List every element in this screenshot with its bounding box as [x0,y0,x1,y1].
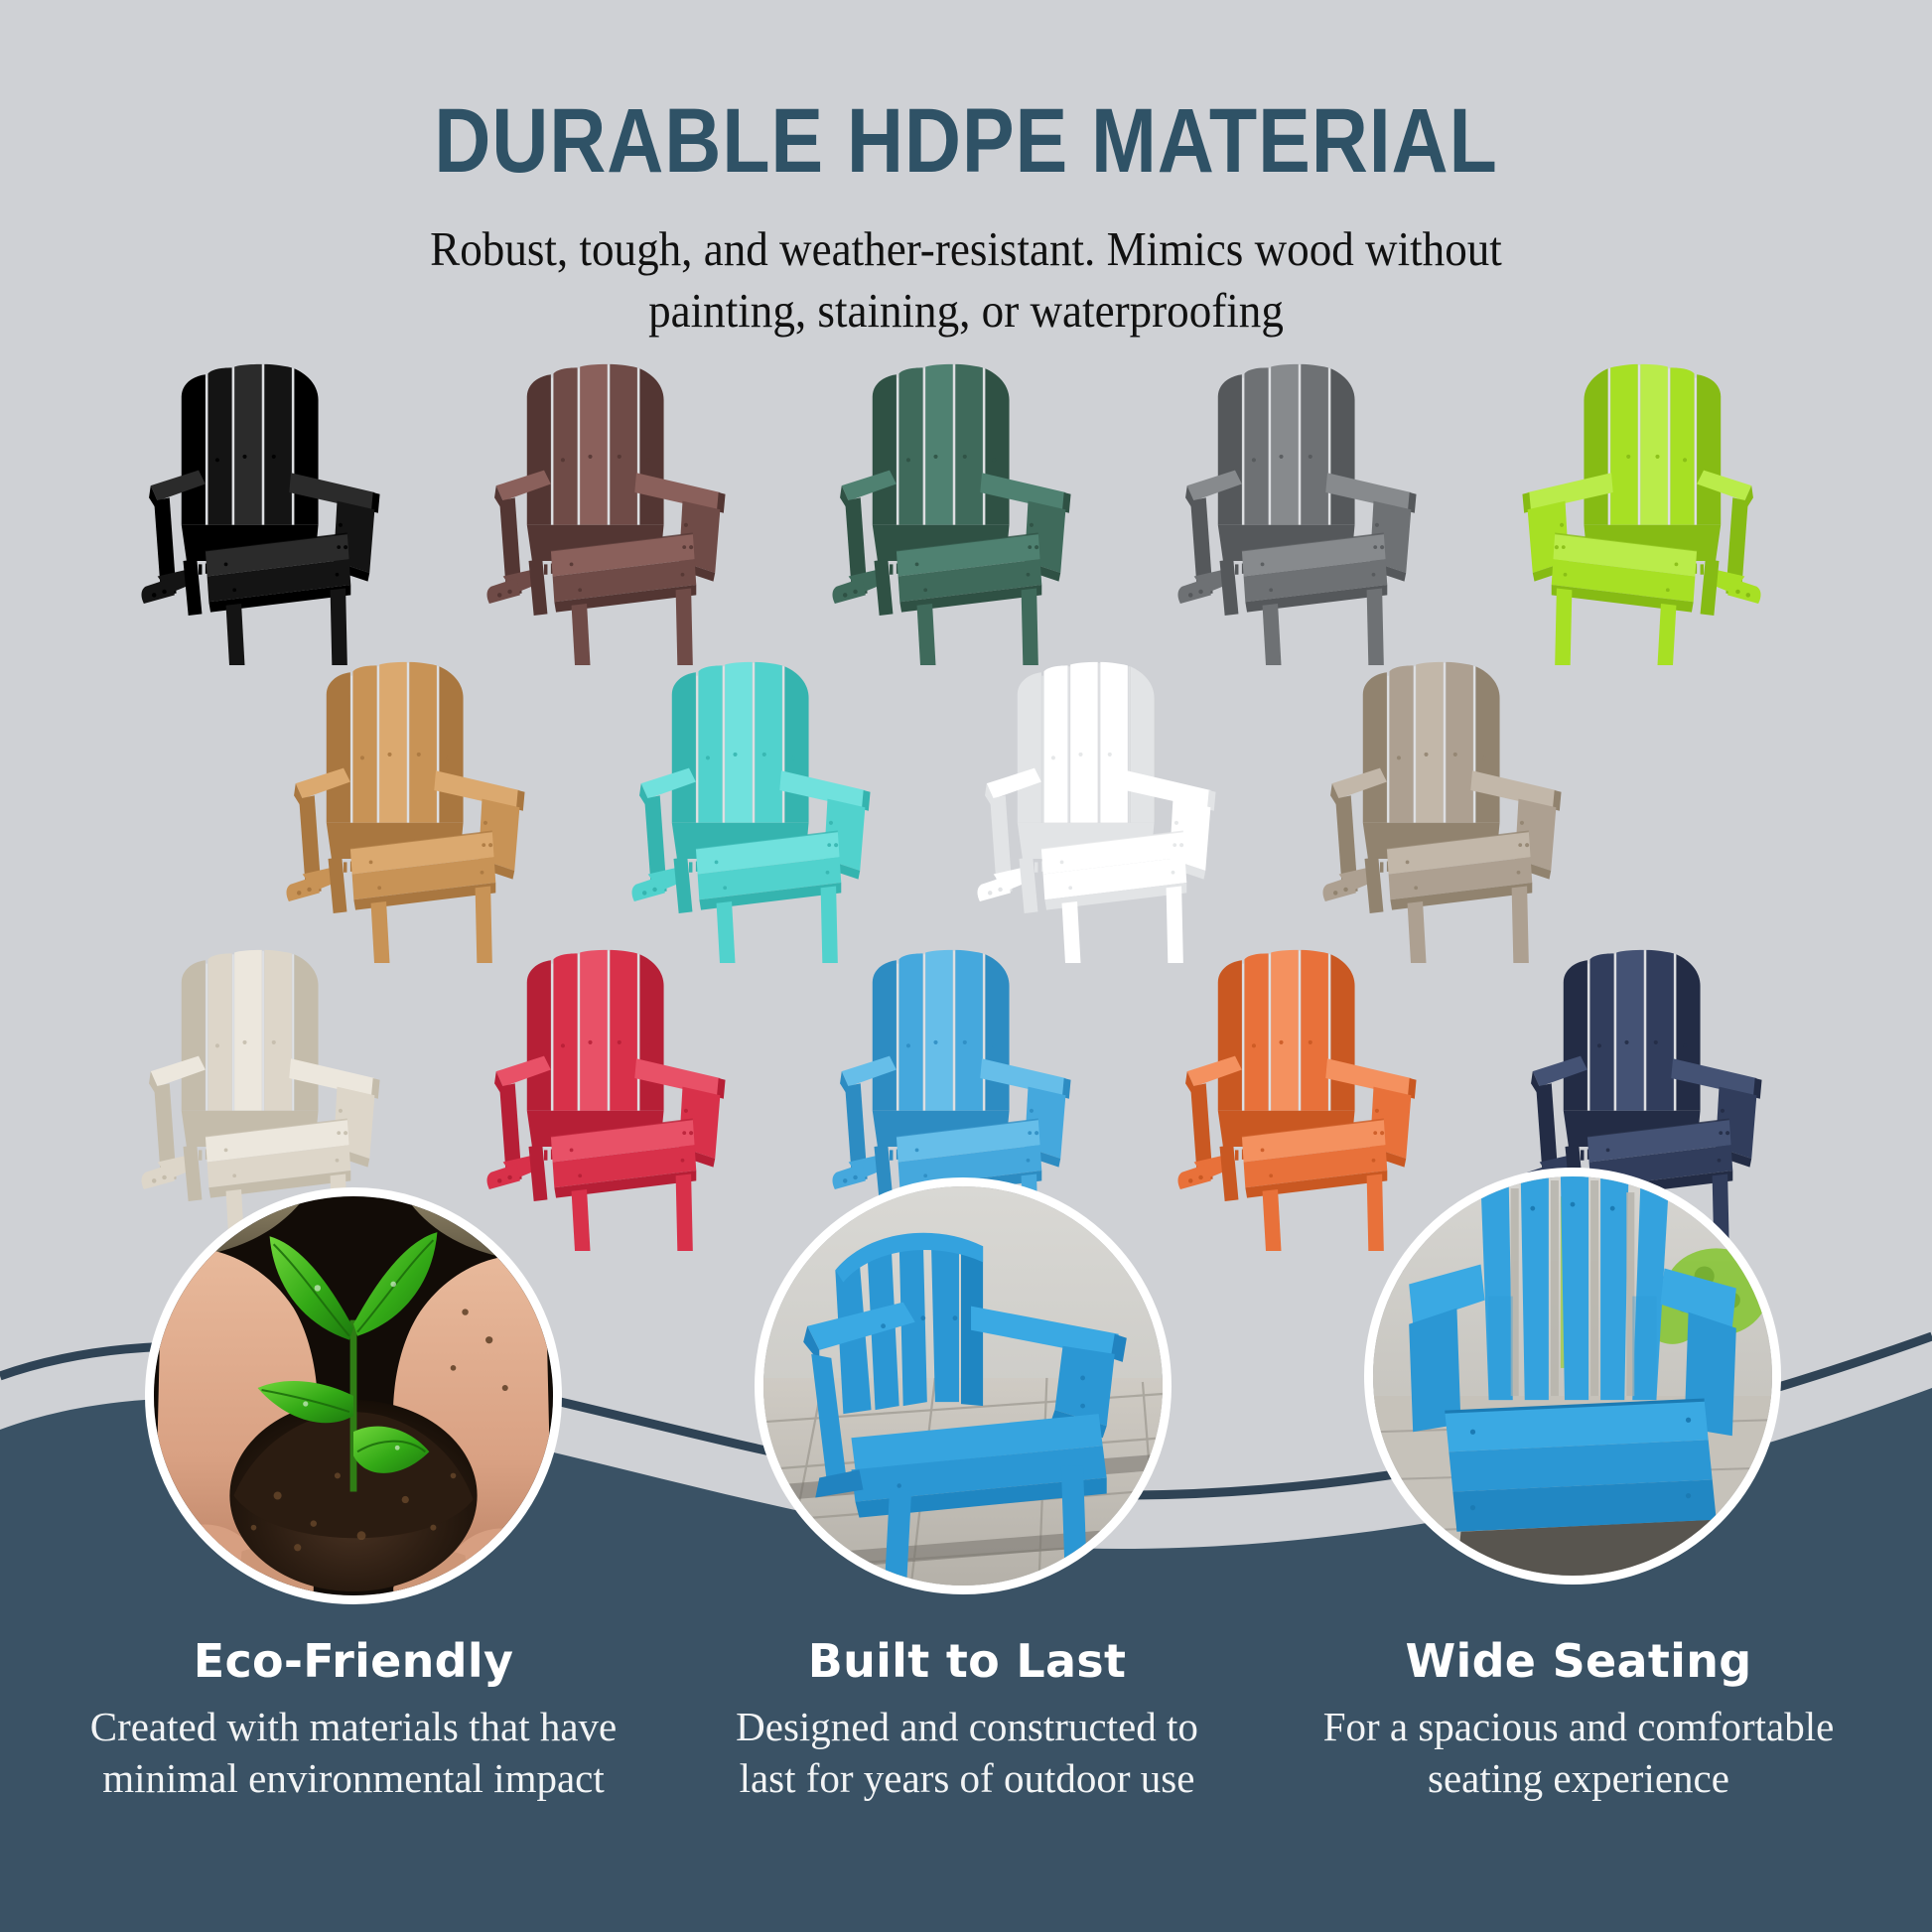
feature-eco-friendly: Eco-Friendly Created with materials that… [38,1634,669,1804]
blue-adirondack-chair-patio-photo [755,1177,1172,1594]
feature-body-line-2: minimal environmental impact [102,1755,605,1801]
feature-title: Wide Seating [1263,1634,1894,1688]
feature-body-line-2: last for years of outdoor use [740,1755,1195,1801]
feature-wide-seating: Wide Seating For a spacious and comforta… [1263,1634,1894,1804]
feature-body-line-1: Created with materials that have [90,1704,618,1749]
wide-seat-photo-art [1373,1176,1772,1576]
feature-body: For a spacious and comfortable seating e… [1263,1702,1894,1804]
blue-chair-wide-seat-closeup-photo [1364,1168,1781,1585]
hands-holding-seedling-photo [145,1187,562,1604]
feature-body: Created with materials that have minimal… [38,1702,669,1804]
feature-body-line-2: seating experience [1428,1755,1729,1801]
feature-body-line-1: For a spacious and comfortable [1323,1704,1835,1749]
infographic-canvas: DURABLE HDPE MATERIAL Robust, tough, and… [0,0,1932,1932]
patio-chair-photo-art [763,1186,1163,1586]
feature-captions: Eco-Friendly Created with materials that… [0,1634,1932,1882]
feature-title: Eco-Friendly [38,1634,669,1688]
seedling-photo-art [154,1196,553,1595]
feature-built-to-last: Built to Last Designed and constructed t… [651,1634,1283,1804]
feature-body-line-1: Designed and constructed to [736,1704,1198,1749]
feature-body: Designed and constructed to last for yea… [651,1702,1283,1804]
feature-title: Built to Last [651,1634,1283,1688]
